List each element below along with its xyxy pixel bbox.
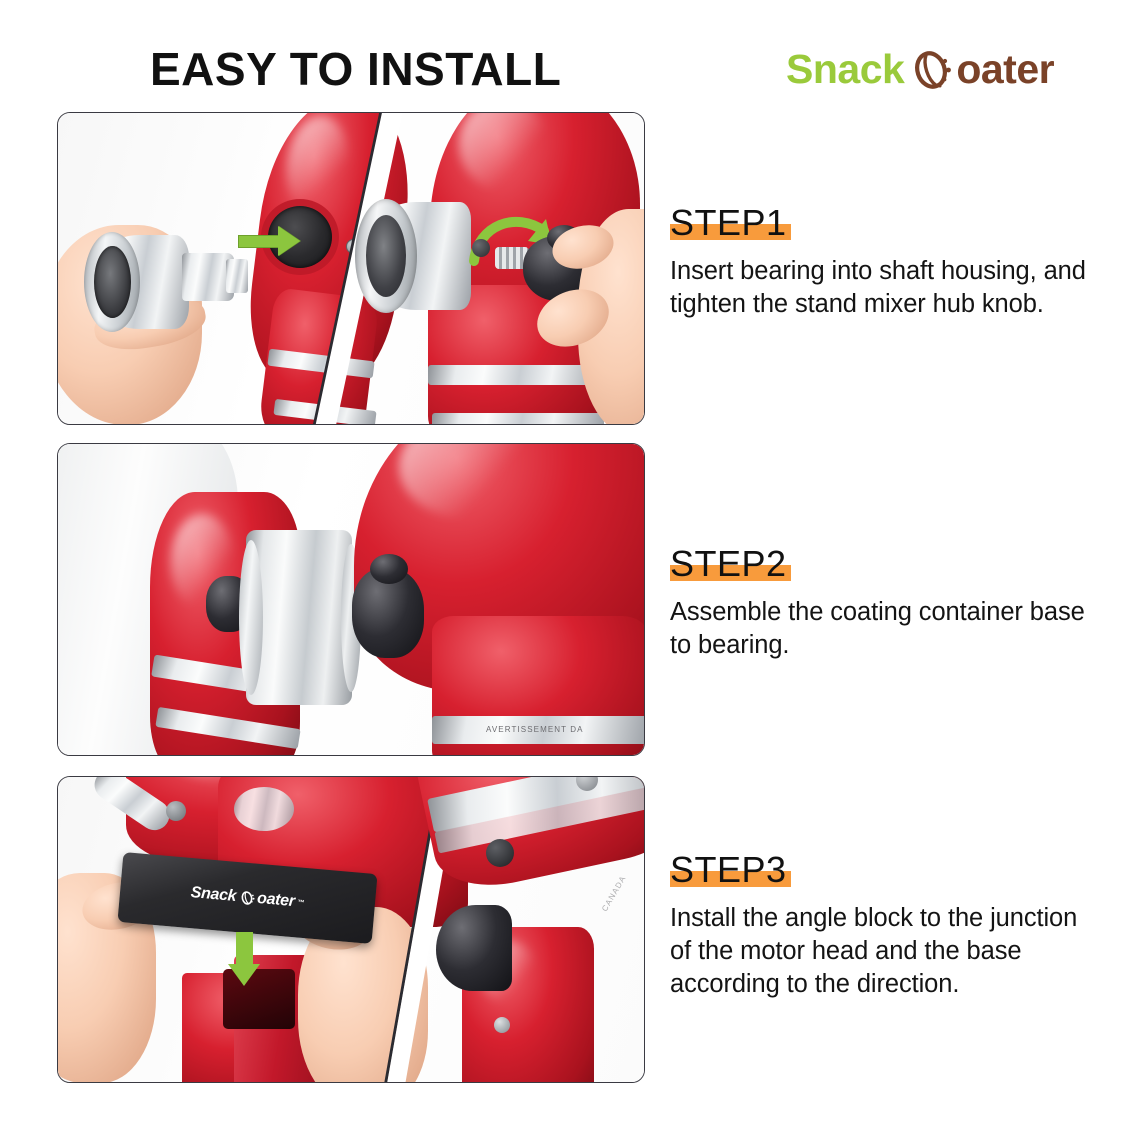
step-3-photo-panel: Snack oater ™	[57, 776, 645, 1083]
green-straight-arrow-icon	[238, 226, 300, 256]
step-2-label: STEP2	[670, 545, 787, 583]
motor-screw-p3	[166, 801, 186, 821]
hub-screw-post	[472, 239, 490, 257]
block-brand-oater: oater	[256, 890, 295, 911]
cookie-icon	[911, 48, 955, 92]
step-2-label-wrap: STEP2	[670, 545, 787, 583]
step-1-photo	[58, 113, 644, 424]
step-2-photo: AVERTISSEMENT DA	[58, 444, 644, 755]
base-screw-right-p3	[494, 1017, 510, 1033]
trim-band-lower-right	[432, 413, 604, 424]
step-1-photo-panel	[57, 112, 645, 425]
step-2-body: Assemble the coating container base to b…	[670, 596, 1100, 662]
trim-band-upper-right	[428, 365, 604, 385]
step-2-photo-panel: AVERTISSEMENT DA	[57, 443, 645, 756]
bearing-flange-left	[239, 540, 263, 695]
step-3-body: Install the angle block to the junction …	[670, 902, 1100, 1001]
installed-bearing-hole	[366, 215, 406, 297]
junction-block-p3	[436, 905, 512, 991]
warning-label: AVERTISSEMENT DA	[486, 725, 584, 734]
step-3-photo: Snack oater ™	[58, 777, 644, 1082]
brand-name-green: Snack	[786, 46, 904, 93]
green-down-arrow-icon	[228, 932, 260, 986]
hub-knob-lobe-panel2	[370, 554, 408, 584]
brand-logo: Snack oater	[786, 46, 1054, 93]
bearing-shaft-tip	[226, 259, 248, 293]
step-1-text: STEP1 Insert bearing into shaft housing,…	[670, 204, 1100, 321]
trademark-symbol: ™	[297, 899, 304, 907]
step-1-label: STEP1	[670, 204, 787, 242]
cookie-icon-small	[239, 889, 256, 906]
step-3-label: STEP3	[670, 851, 787, 889]
block-brand-snack: Snack	[190, 884, 237, 906]
brand-name-brown: oater	[956, 46, 1054, 93]
step-3-label-wrap: STEP3	[670, 851, 787, 889]
bearing-inner-hole	[94, 246, 131, 318]
step-1-body: Insert bearing into shaft housing, and t…	[670, 255, 1100, 321]
angle-block-brand: Snack oater ™	[190, 884, 305, 912]
step-2-text: STEP2 Assemble the coating container bas…	[670, 545, 1100, 662]
step-1-label-wrap: STEP1	[670, 204, 787, 242]
step-3-text: STEP3 Install the angle block to the jun…	[670, 851, 1100, 1001]
hinge-pin-p3	[486, 839, 514, 867]
motor-trim-p3	[234, 787, 294, 831]
infographic-page: EASY TO INSTALL Snack oater	[0, 0, 1125, 1125]
page-title: EASY TO INSTALL	[150, 42, 561, 96]
